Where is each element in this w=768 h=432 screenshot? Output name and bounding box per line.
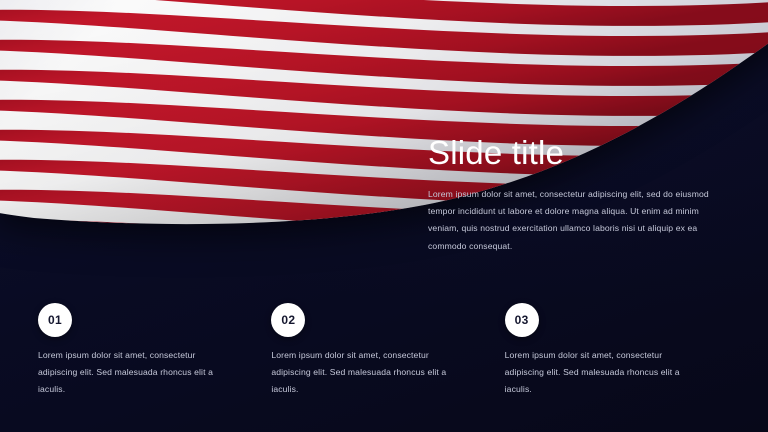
presentation-slide: Slide title Lorem ipsum dolor sit amet, … bbox=[0, 0, 768, 432]
feature-column-02: 02 Lorem ipsum dolor sit amet, consectet… bbox=[271, 303, 504, 399]
number-badge-02: 02 bbox=[271, 303, 305, 337]
number-badge-label: 01 bbox=[48, 313, 62, 327]
feature-text-02: Lorem ipsum dolor sit amet, consectetur … bbox=[271, 347, 462, 399]
number-badge-03: 03 bbox=[505, 303, 539, 337]
feature-text-01: Lorem ipsum dolor sit amet, consectetur … bbox=[38, 347, 229, 399]
body-paragraph: Lorem ipsum dolor sit amet, consectetur … bbox=[428, 186, 716, 255]
number-badge-01: 01 bbox=[38, 303, 72, 337]
title-block: Slide title Lorem ipsum dolor sit amet, … bbox=[428, 133, 728, 255]
feature-column-03: 03 Lorem ipsum dolor sit amet, consectet… bbox=[505, 303, 738, 399]
feature-column-01: 01 Lorem ipsum dolor sit amet, consectet… bbox=[38, 303, 271, 399]
number-badge-label: 02 bbox=[281, 313, 295, 327]
feature-columns: 01 Lorem ipsum dolor sit amet, consectet… bbox=[38, 303, 738, 399]
page-title: Slide title bbox=[428, 133, 728, 173]
slide-content: Slide title Lorem ipsum dolor sit amet, … bbox=[0, 0, 768, 432]
feature-text-03: Lorem ipsum dolor sit amet, consectetur … bbox=[505, 347, 696, 399]
number-badge-label: 03 bbox=[515, 313, 529, 327]
